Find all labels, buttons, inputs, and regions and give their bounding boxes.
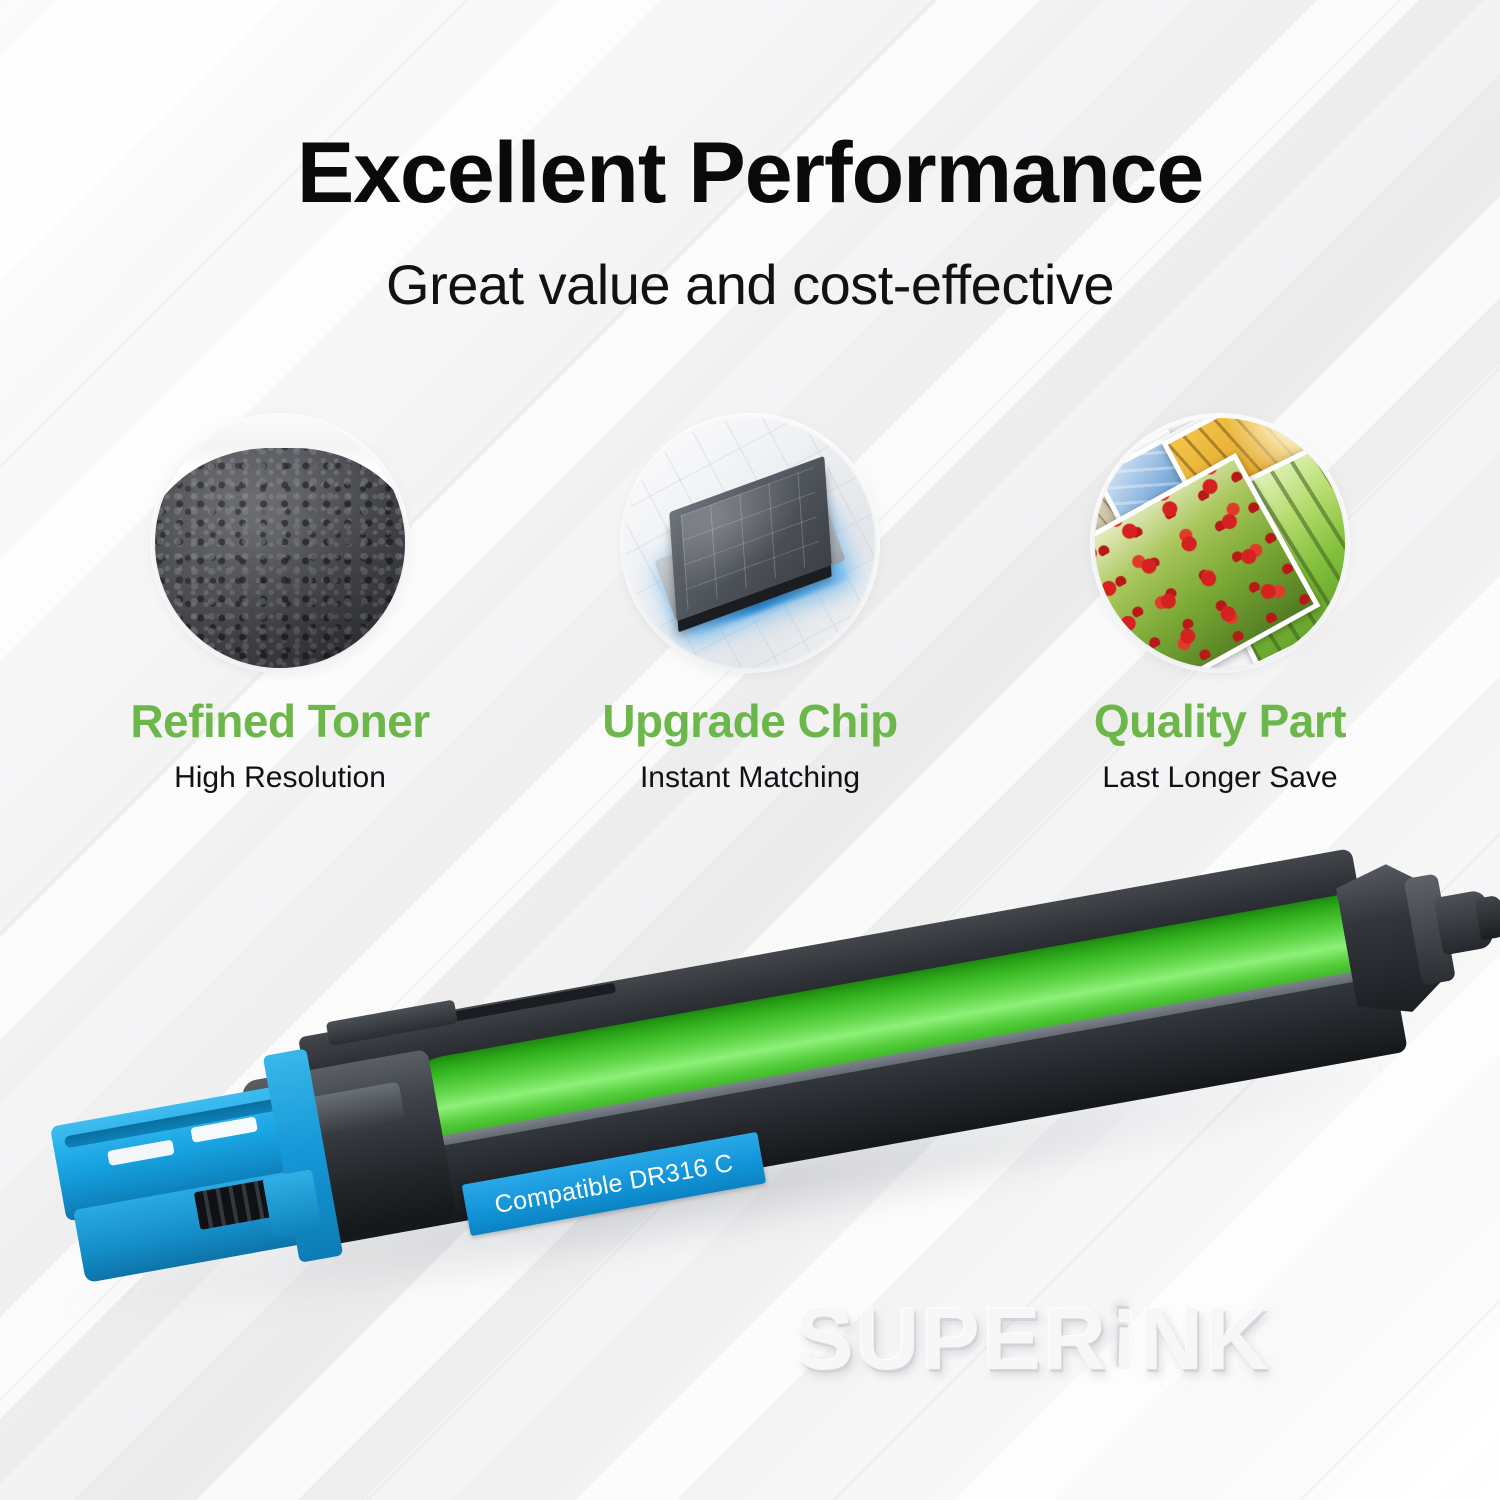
feature-title: Quality Part — [1094, 696, 1346, 747]
page-subtitle: Great value and cost-effective — [0, 252, 1500, 317]
feature-caption: Instant Matching — [640, 761, 860, 795]
photo-collage-icon — [1095, 418, 1345, 668]
feature-title: Upgrade Chip — [602, 696, 898, 747]
feature-item-upgrade-chip: Upgrade Chip Instant Matching — [540, 418, 960, 795]
headings-block: Excellent Performance Great value and co… — [0, 128, 1500, 317]
chip-scene — [625, 418, 875, 668]
feature-caption: Last Longer Save — [1102, 761, 1337, 795]
brand-watermark: SUPER!NK — [795, 1288, 1271, 1390]
watermark-prefix: SUPER — [795, 1289, 1108, 1388]
product-image: Compatible DR316 C — [0, 880, 1500, 1350]
toner-powder-icon — [155, 418, 405, 668]
cyan-tab — [262, 1169, 322, 1239]
watermark-suffix: NK — [1140, 1289, 1271, 1388]
feature-item-quality-part: Quality Part Last Longer Save — [1010, 418, 1430, 795]
page-title: Excellent Performance — [0, 128, 1500, 218]
toner-powder-shape — [155, 448, 405, 668]
feature-row: Refined Toner High Resolution Upgrade Ch… — [70, 418, 1430, 795]
watermark-exclamation-icon: ! — [1108, 1288, 1139, 1390]
microchip-icon — [625, 418, 875, 668]
feature-item-refined-toner: Refined Toner High Resolution — [70, 418, 490, 795]
feature-caption: High Resolution — [174, 761, 386, 795]
photo-collage — [1095, 418, 1345, 668]
feature-title: Refined Toner — [130, 696, 429, 747]
